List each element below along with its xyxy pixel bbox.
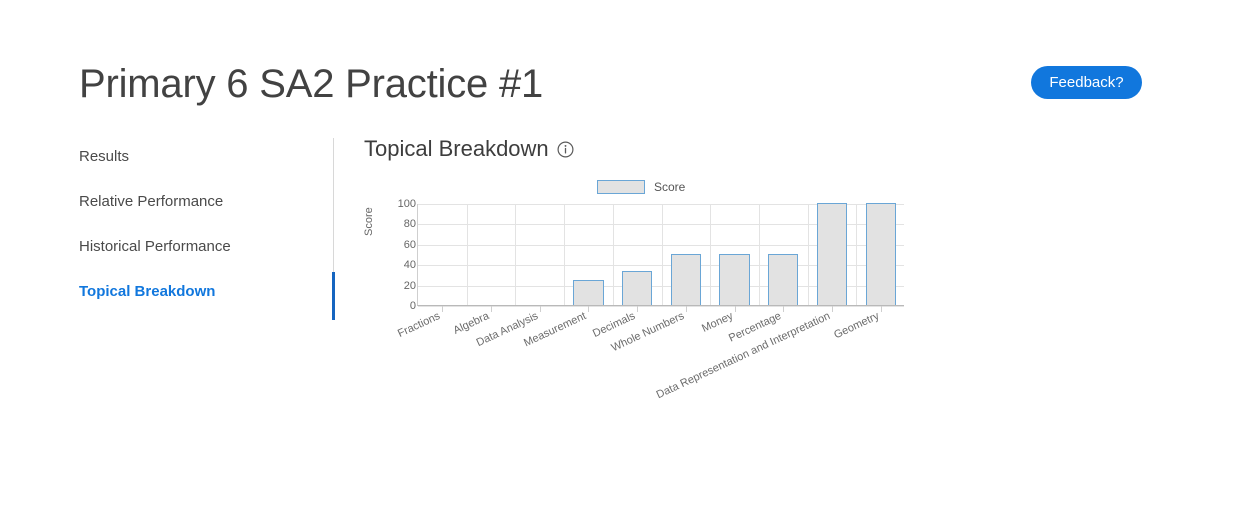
x-axis-tick-label: Money (700, 310, 735, 335)
y-axis-tick-label: 20 (404, 280, 416, 292)
y-axis-tick-label: 0 (410, 300, 416, 312)
gridline-vertical (759, 204, 760, 305)
panel-title-row: Topical Breakdown (364, 136, 574, 162)
bar-decimals[interactable] (622, 271, 652, 305)
x-axis-tick (686, 306, 687, 312)
y-axis-tick-label: 80 (404, 218, 416, 230)
y-axis-tick-label: 60 (404, 239, 416, 251)
gridline-vertical (515, 204, 516, 305)
page-title: Primary 6 SA2 Practice #1 (79, 62, 543, 107)
x-axis-tick (588, 306, 589, 312)
x-axis-tick (783, 306, 784, 312)
panel-title: Topical Breakdown (364, 136, 549, 162)
info-circle-icon[interactable] (557, 141, 574, 158)
legend-swatch-score (597, 180, 645, 194)
y-axis-tick-labels: 020406080100 (378, 196, 416, 308)
results-page: Primary 6 SA2 Practice #1 Feedback? Resu… (0, 0, 1239, 513)
y-axis-tick-label: 100 (398, 198, 416, 210)
x-axis-tick-label: Data Representation and Interpretation (655, 310, 832, 401)
bar-data-representation-and-interpretation[interactable] (817, 203, 847, 305)
bar-money[interactable] (719, 254, 749, 305)
y-axis-tick-label: 40 (404, 259, 416, 271)
bar-geometry[interactable] (866, 203, 896, 305)
x-axis-tick (491, 306, 492, 312)
sidebar-active-indicator (332, 272, 335, 320)
feedback-button[interactable]: Feedback? (1031, 66, 1142, 99)
gridline-vertical (613, 204, 614, 305)
x-axis-tick (881, 306, 882, 312)
x-axis-tick-label: Geometry (832, 310, 881, 341)
sidebar-item-relative-performance[interactable]: Relative Performance (79, 193, 329, 210)
bar-percentage[interactable] (768, 254, 798, 305)
x-axis-tick (540, 306, 541, 312)
sidebar-item-label: Topical Breakdown (79, 283, 215, 300)
gridline-vertical (662, 204, 663, 305)
x-axis-tick-label: Fractions (396, 310, 442, 340)
x-axis-tick (637, 306, 638, 312)
x-axis-tick (735, 306, 736, 312)
sidebar-item-results[interactable]: Results (79, 148, 329, 165)
sidebar-item-historical-performance[interactable]: Historical Performance (79, 238, 329, 255)
sidebar-item-topical-breakdown[interactable]: Topical Breakdown (79, 283, 329, 300)
chart-legend: Score (597, 180, 685, 194)
gridline-vertical (564, 204, 565, 305)
gridline-vertical (856, 204, 857, 305)
legend-label-score: Score (654, 180, 685, 194)
sidebar-item-label: Relative Performance (79, 193, 223, 210)
x-axis-tick (442, 306, 443, 312)
bar-whole-numbers[interactable] (671, 254, 701, 305)
gridline-vertical (467, 204, 468, 305)
plot-canvas (417, 204, 904, 306)
sidebar-item-label: Results (79, 148, 129, 165)
x-axis-tick (832, 306, 833, 312)
bar-measurement[interactable] (573, 280, 603, 306)
gridline-vertical (808, 204, 809, 305)
y-axis-title: Score (363, 207, 375, 236)
sidebar-nav: ResultsRelative PerformanceHistorical Pe… (79, 148, 329, 300)
gridline-vertical (710, 204, 711, 305)
sidebar-item-label: Historical Performance (79, 238, 231, 255)
